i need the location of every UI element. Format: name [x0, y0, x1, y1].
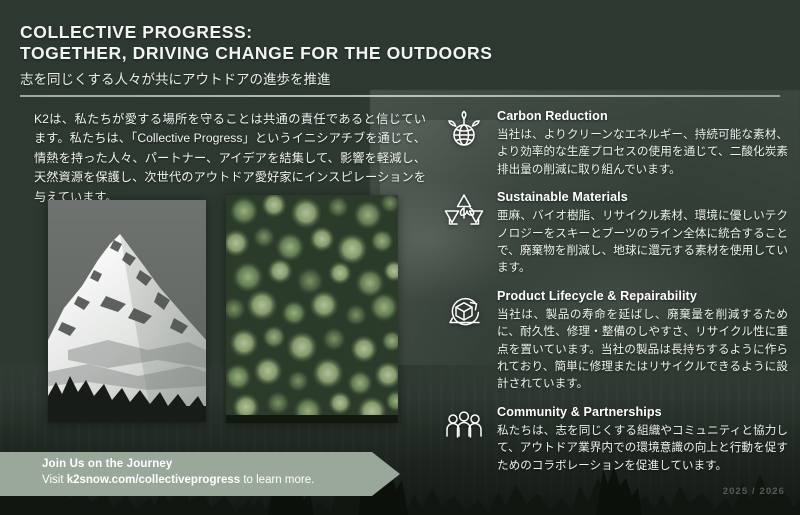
headline-line-1: COLLECTIVE PROGRESS:	[20, 22, 780, 43]
headline-subhead-japanese: 志を同じくする人々が共にアウトドアの進歩を推進	[20, 71, 780, 89]
cta-banner[interactable]: Join Us on the Journey Visit k2snow.com/…	[42, 452, 382, 496]
left-column: K2は、私たちが愛する場所を守ることは共通の責任であると信じています。私たちは、…	[34, 110, 426, 207]
header-divider-rule	[20, 95, 780, 97]
cta-title: Join Us on the Journey	[42, 452, 382, 472]
feature-product-lifecycle-repairability: Product Lifecycle & Repairability 当社は、製品…	[443, 288, 788, 393]
photo-pair	[48, 200, 398, 422]
feature-text: 当社は、製品の寿命を延ばし、廃棄量を削減するために、耐久性、修理・整備のしやすさ…	[497, 306, 788, 393]
feature-body: Community & Partnerships 私たちは、志を同じくする組織や…	[497, 404, 788, 474]
slide-canvas: COLLECTIVE PROGRESS: TOGETHER, DRIVING C…	[0, 0, 800, 515]
features-column: Carbon Reduction 当社は、よりクリーンなエネルギー、持続可能な素…	[443, 108, 788, 485]
cta-visit-suffix: to learn more.	[240, 474, 314, 486]
globe-leaf-icon	[443, 110, 485, 152]
feature-carbon-reduction: Carbon Reduction 当社は、よりクリーンなエネルギー、持続可能な素…	[443, 108, 788, 178]
cta-url-link[interactable]: k2snow.com/collectiveprogress	[67, 474, 240, 486]
cta-visit-line: Visit k2snow.com/collectiveprogress to l…	[42, 472, 382, 488]
feature-body: Carbon Reduction 当社は、よりクリーンなエネルギー、持続可能な素…	[497, 108, 788, 178]
headline-line-2: TOGETHER, DRIVING CHANGE FOR THE OUTDOOR…	[20, 43, 780, 64]
feature-title: Sustainable Materials	[497, 189, 788, 205]
feature-text: 当社は、よりクリーンなエネルギー、持続可能な素材、より効率的な生産プロセスの使用…	[497, 126, 788, 178]
intro-paragraph: K2は、私たちが愛する場所を守ることは共通の責任であると信じています。私たちは、…	[34, 110, 426, 207]
box-lifecycle-loop-icon	[443, 290, 485, 332]
feature-title: Product Lifecycle & Repairability	[497, 288, 788, 304]
feature-title: Community & Partnerships	[497, 404, 788, 420]
feature-text: 亜麻、バイオ樹脂、リサイクル素材、環境に優しいテクノロジーをスキーとブーツのライ…	[497, 207, 788, 277]
feature-body: Sustainable Materials 亜麻、バイオ樹脂、リサイクル素材、環…	[497, 189, 788, 277]
header: COLLECTIVE PROGRESS: TOGETHER, DRIVING C…	[20, 22, 780, 89]
feature-text: 私たちは、志を同じくする組織やコミュニティと協力して、アウトドア業界内での環境意…	[497, 422, 788, 474]
people-group-icon	[443, 406, 485, 448]
season-mark: 2025 / 2026	[723, 486, 785, 497]
photo-snowy-mountain-peak	[48, 200, 206, 422]
cta-visit-prefix: Visit	[42, 474, 67, 486]
feature-title: Carbon Reduction	[497, 108, 788, 124]
recycle-leaf-icon	[443, 191, 485, 233]
feature-community-partnerships: Community & Partnerships 私たちは、志を同じくする組織や…	[443, 404, 788, 474]
photo-aerial-forest-canopy	[226, 195, 398, 423]
feature-sustainable-materials: Sustainable Materials 亜麻、バイオ樹脂、リサイクル素材、環…	[443, 189, 788, 277]
feature-body: Product Lifecycle & Repairability 当社は、製品…	[497, 288, 788, 393]
